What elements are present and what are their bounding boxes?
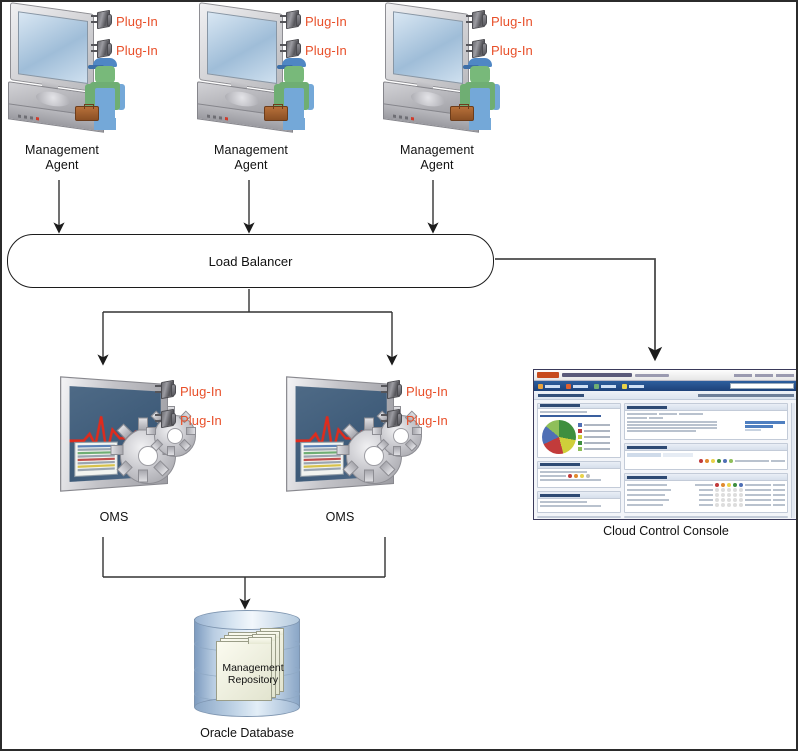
console-menu-item[interactable] xyxy=(566,384,588,389)
console-panel-security xyxy=(537,516,621,518)
architecture-diagram: Plug-In Plug-In Management Agent xyxy=(0,0,798,751)
load-balancer-node[interactable]: Load Balancer xyxy=(7,234,494,288)
plug-in-icon xyxy=(91,10,113,30)
console-panel-compliance-standards xyxy=(624,443,788,470)
plug-in-label: Plug-In xyxy=(180,413,222,428)
management-agent-label: Management Agent xyxy=(377,143,497,173)
plug-in-icon xyxy=(155,409,177,429)
management-agent-label: Management Agent xyxy=(191,143,311,173)
console-page-header xyxy=(534,391,798,400)
plug-in-icon xyxy=(381,380,403,400)
console-panel-compliance-results xyxy=(624,473,788,513)
plug-in-icon xyxy=(381,409,403,429)
console-panel-getting-started xyxy=(624,516,788,518)
console-panel-summary-grid xyxy=(624,403,788,440)
repository-documents-icon: Management Repository xyxy=(214,632,284,698)
console-panel-targets xyxy=(537,491,621,513)
plug-in-icon xyxy=(466,10,488,30)
console-panel-compliance-summary xyxy=(537,403,621,458)
management-agent-2[interactable]: Plug-In Plug-In Management Agent xyxy=(195,6,375,186)
plug-in-label: Plug-In xyxy=(491,43,533,58)
plug-in-label: Plug-In xyxy=(406,384,448,399)
plug-in-label: Plug-In xyxy=(116,14,158,29)
oms-label: OMS xyxy=(74,510,154,525)
plug-in-label: Plug-In xyxy=(305,14,347,29)
oracle-database-node[interactable]: Management Repository xyxy=(194,610,300,720)
console-app-title xyxy=(562,373,632,377)
oracle-database-label: Oracle Database xyxy=(169,726,325,740)
plug-in-icon xyxy=(91,39,113,59)
administrator-figure-icon xyxy=(273,58,315,130)
plug-in-icon xyxy=(155,380,177,400)
plug-in-icon xyxy=(280,10,302,30)
console-title-bar xyxy=(534,370,798,381)
console-caption: Cloud Control Console xyxy=(533,524,798,538)
console-search-input[interactable] xyxy=(730,383,794,389)
cylinder-top xyxy=(194,610,300,630)
console-menu-bar[interactable] xyxy=(534,381,798,391)
console-subtitle xyxy=(635,374,669,377)
plug-in-icon xyxy=(466,39,488,59)
plug-in-icon xyxy=(280,39,302,59)
cloud-control-console-screenshot[interactable] xyxy=(533,369,798,520)
plug-in-label: Plug-In xyxy=(180,384,222,399)
plug-in-label: Plug-In xyxy=(406,413,448,428)
console-menu-item[interactable] xyxy=(622,384,644,389)
administrator-figure-icon xyxy=(459,58,501,130)
console-dashboard-body xyxy=(534,400,798,520)
plug-in-label: Plug-In xyxy=(116,43,158,58)
oracle-logo-icon xyxy=(537,372,559,378)
oms-label: OMS xyxy=(300,510,380,525)
oms-node-1[interactable]: Plug-In Plug-In OMS xyxy=(64,380,249,550)
console-menu-item[interactable] xyxy=(538,384,560,389)
management-agent-3[interactable]: Plug-In Plug-In Management Agent xyxy=(381,6,561,186)
console-menu-item[interactable] xyxy=(594,384,616,389)
management-agent-1[interactable]: Plug-In Plug-In Management Agent xyxy=(6,6,186,186)
console-titlebar-links xyxy=(734,374,798,377)
plug-in-label: Plug-In xyxy=(491,14,533,29)
oms-node-2[interactable]: Plug-In Plug-In OMS xyxy=(290,380,475,550)
plug-in-label: Plug-In xyxy=(305,43,347,58)
administrator-figure-icon xyxy=(84,58,126,130)
management-repository-label: Management Repository xyxy=(214,662,292,686)
load-balancer-label: Load Balancer xyxy=(209,254,293,269)
management-agent-label: Management Agent xyxy=(2,143,122,173)
console-pie-chart xyxy=(542,420,576,454)
console-scrollbar[interactable] xyxy=(791,403,795,518)
console-panel-violations xyxy=(537,461,621,488)
